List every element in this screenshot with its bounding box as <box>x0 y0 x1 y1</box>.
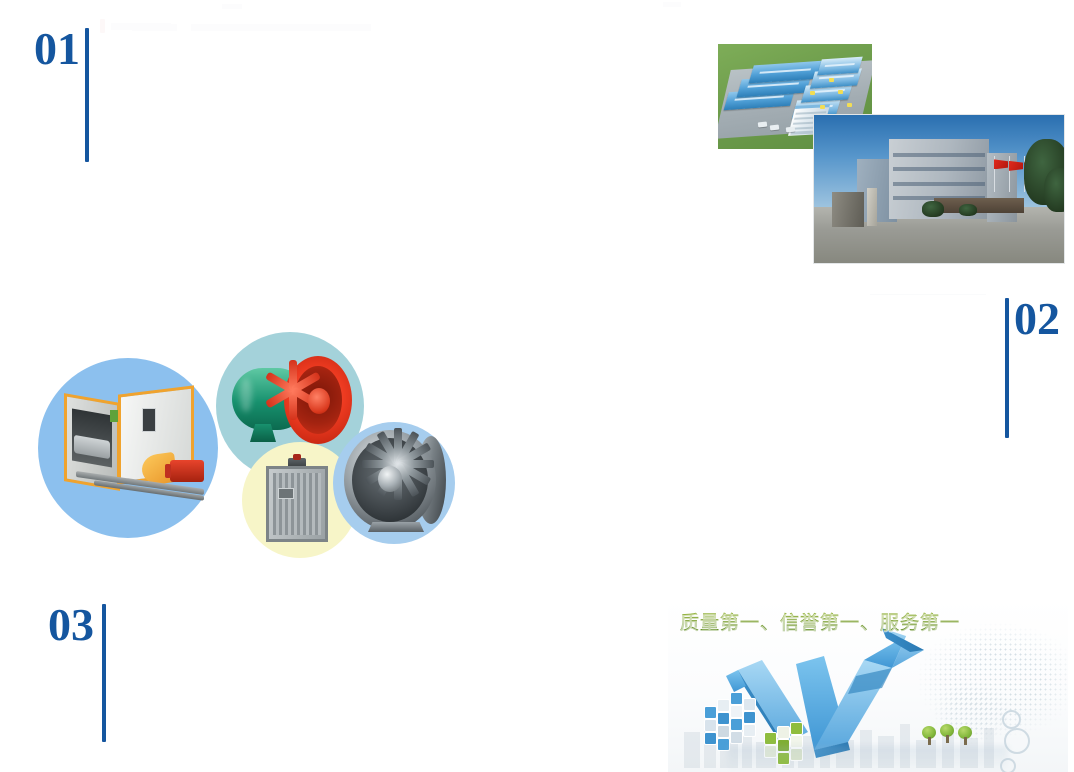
section-number-01: 01 <box>34 26 80 72</box>
shrub <box>959 204 977 216</box>
photo-gatehouse <box>832 192 865 228</box>
section-rule-02 <box>1005 298 1009 438</box>
section-marker-03[interactable]: 03 <box>48 602 106 742</box>
workshop-building <box>817 56 863 75</box>
render-vehicle <box>770 124 779 130</box>
ghost-mark-left <box>100 19 105 33</box>
render-marker-dot <box>829 78 834 82</box>
shrub <box>922 201 944 217</box>
section-marker-02[interactable]: 02 <box>1005 296 1060 438</box>
page-root: 01 02 03 <box>0 0 1074 772</box>
product-air-filter-damper[interactable] <box>266 458 328 542</box>
tree <box>1044 168 1064 212</box>
product-collage[interactable] <box>36 330 426 555</box>
render-marker-dot <box>838 90 843 94</box>
render-marker-dot <box>847 103 852 107</box>
banner-slogan: 质量第一、信誉第一、服务第一 <box>680 608 960 635</box>
floor-reflection <box>728 746 1008 772</box>
ghost-text-d <box>222 4 242 9</box>
ghost-text-b <box>132 24 177 31</box>
bubble-icon <box>1002 710 1021 729</box>
render-marker-dot <box>820 105 825 109</box>
slogan-banner[interactable]: 质量第一、信誉第一、服务第一 <box>668 598 1068 772</box>
blue-cube-cluster-icon <box>704 692 766 754</box>
product-steel-turbo-fan[interactable] <box>344 430 452 534</box>
render-vehicle <box>758 121 767 127</box>
section-number-02: 02 <box>1014 296 1060 342</box>
section-rule-03 <box>102 604 106 742</box>
product-axial-flow-fan[interactable] <box>232 350 354 460</box>
section-marker-01[interactable]: 01 <box>34 26 89 162</box>
ghost-text-e <box>663 2 681 7</box>
render-vehicle <box>786 126 795 132</box>
ghost-text-c <box>191 24 371 31</box>
render-marker-dot <box>810 91 815 95</box>
section-02-hairline <box>870 294 986 295</box>
section-number-03: 03 <box>48 602 94 648</box>
section-rule-01 <box>85 28 89 162</box>
photo-front-wall <box>934 198 1024 213</box>
product-box-centrifugal-fan[interactable] <box>64 388 212 508</box>
office-building-photo[interactable] <box>814 115 1064 263</box>
photo-gate-pillar <box>867 188 877 226</box>
